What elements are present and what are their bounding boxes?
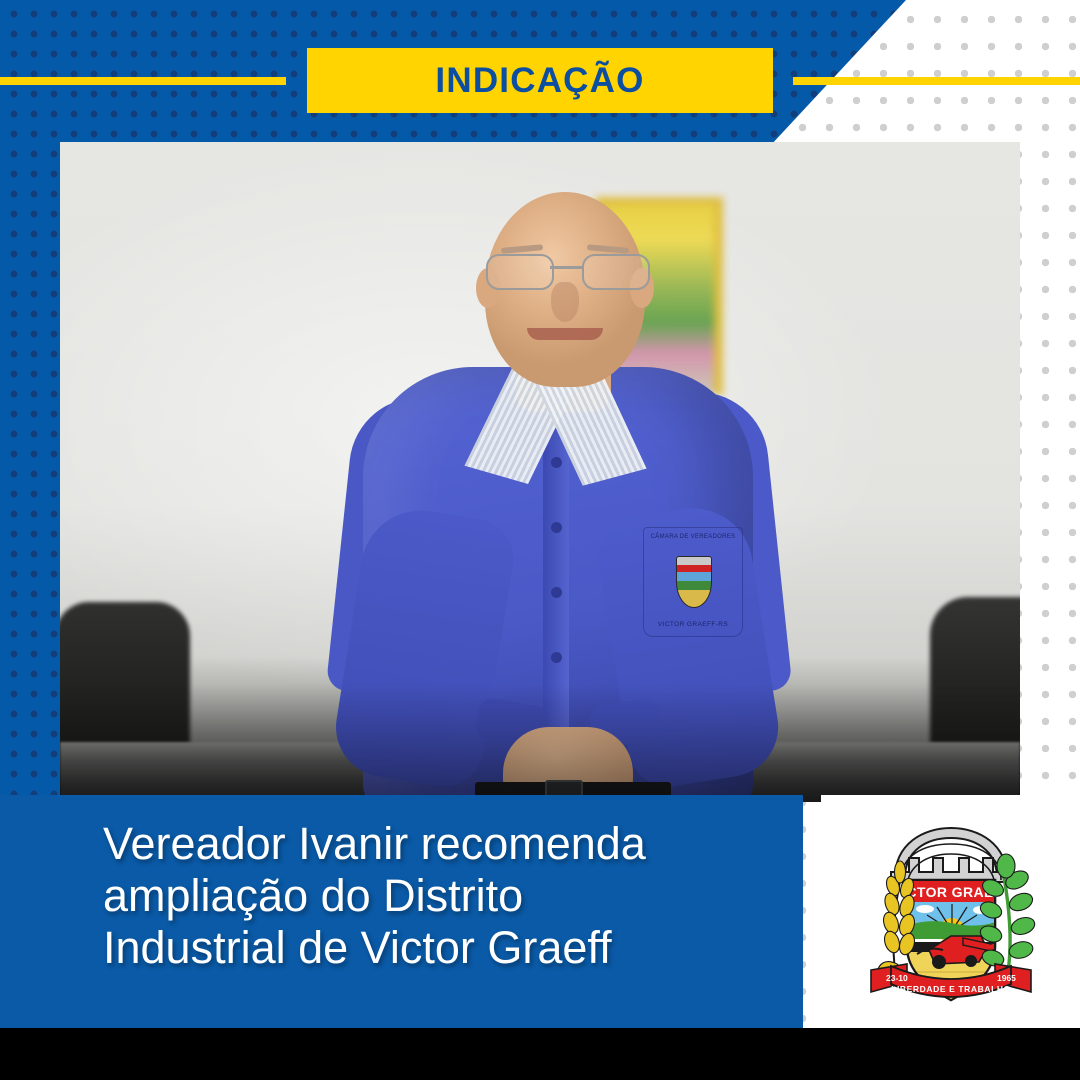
headline-line-2: ampliação do Distrito [103,870,783,922]
headline-line-3: Industrial de Victor Graeff [103,922,783,974]
header-badge-label: INDICAÇÃO [435,61,644,101]
coat-of-arms-victor-graeff-icon: VICTOR GRAEFF [851,814,1051,1010]
bottom-letterbox-bar [0,1028,1080,1080]
headline-panel: Vereador Ivanir recomenda ampliação do D… [0,795,803,1028]
ribbon-center-text: LIBERDADE E TRABALHO [891,984,1011,994]
header-badge: INDICAÇÃO [307,48,773,113]
cloud-icon [916,905,934,913]
announcement-card: INDICAÇÃO [0,0,1080,1080]
header-rule-left [0,77,286,85]
photo-bottom-gradient [60,142,1020,802]
ribbon-right-text: 1965 [997,973,1016,983]
logo-card: VICTOR GRAEFF [821,795,1080,1028]
headline-line-1: Vereador Ivanir recomenda [103,818,783,870]
ribbon-left-text: 23-10 [886,973,908,983]
headline-text: Vereador Ivanir recomenda ampliação do D… [103,818,783,975]
header-rule-right [793,77,1080,85]
councilman-photo: CÂMARA DE VEREADORES VICTOR GRAEFF-RS [60,142,1020,802]
